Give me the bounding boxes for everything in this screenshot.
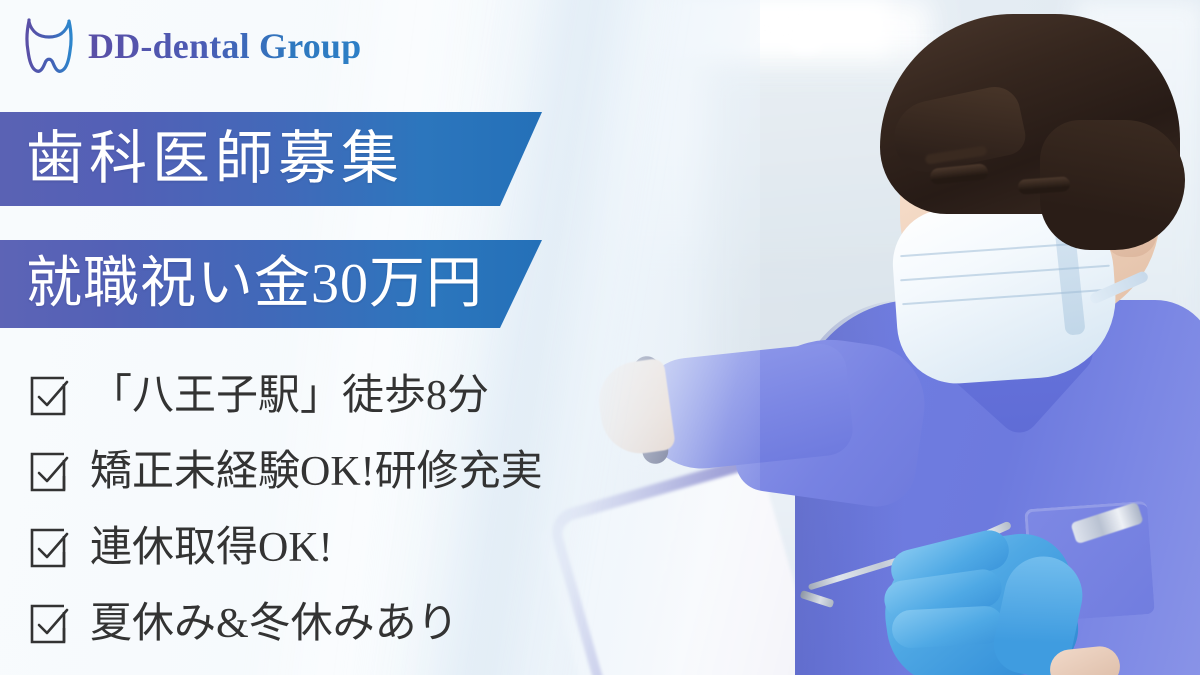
headline-banner-secondary: 就職祝い金30万円 bbox=[0, 240, 542, 328]
headline-banner-primary-text: 歯科医師募集 bbox=[26, 130, 404, 188]
checklist-item: 矯正未経験OK!研修充実 bbox=[28, 434, 588, 510]
checkbox-checked-icon bbox=[28, 526, 72, 570]
checklist-item: 夏休み&冬休みあり bbox=[28, 586, 588, 662]
checklist-item-label: 矯正未経験OK!研修充実 bbox=[90, 451, 543, 493]
checklist-item-label: 「八王子駅」徒歩8分 bbox=[90, 375, 489, 417]
checklist-item: 「八王子駅」徒歩8分 bbox=[28, 358, 588, 434]
brand-logo[interactable]: DD-dental Group bbox=[22, 18, 361, 74]
recruitment-poster: DD-dental Group 歯科医師募集 就職祝い金30万円 「八王子駅」徒… bbox=[0, 0, 1200, 675]
checkbox-checked-icon bbox=[28, 450, 72, 494]
headline-banner-primary: 歯科医師募集 bbox=[0, 112, 542, 206]
checklist-item-label: 夏休み&冬休みあり bbox=[90, 603, 459, 645]
checkbox-checked-icon bbox=[28, 602, 72, 646]
benefits-checklist: 「八王子駅」徒歩8分 矯正未経験OK!研修充実 連休取得OK! bbox=[28, 358, 588, 662]
tooth-icon bbox=[22, 18, 76, 74]
checklist-item: 連休取得OK! bbox=[28, 510, 588, 586]
headline-banner-secondary-text: 就職祝い金30万円 bbox=[26, 256, 483, 312]
checklist-item-label: 連休取得OK! bbox=[90, 527, 333, 569]
brand-name: DD-dental Group bbox=[88, 28, 361, 64]
checkbox-checked-icon bbox=[28, 374, 72, 418]
poster-content: DD-dental Group 歯科医師募集 就職祝い金30万円 「八王子駅」徒… bbox=[0, 0, 1200, 675]
